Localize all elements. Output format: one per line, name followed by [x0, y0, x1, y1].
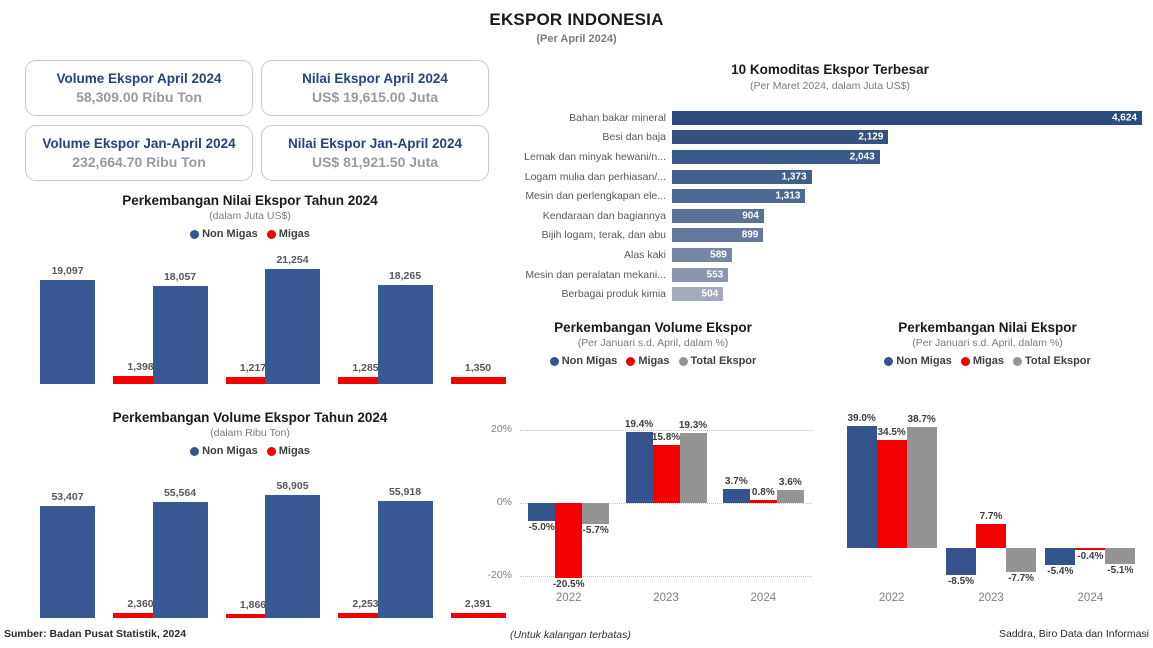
legend-dot-icon [1013, 357, 1022, 366]
chart-nilai-pct-plot: 39.0%34.5%38.7%2022-8.5%7.7%-7.7%2023-5.… [830, 410, 1150, 620]
commodity-value-label: 2,043 [850, 151, 875, 162]
legend-item-non-migas[interactable]: Non Migas [190, 445, 258, 457]
bar-non-migas[interactable] [265, 269, 320, 384]
bar-migas[interactable] [555, 503, 582, 578]
x-axis-tick-label: 2022 [539, 592, 599, 604]
legend-dot-icon [190, 447, 199, 456]
commodity-row: Lemak dan minyak hewani/n...2,043 [512, 147, 1148, 167]
kpi-value: 58,309.00 Ribu Ton [76, 89, 202, 105]
legend-label: Total Ekspor [691, 355, 757, 367]
bar-total-ekspor[interactable] [582, 503, 609, 524]
kpi-card-nilai-april[interactable]: Nilai Ekspor April 2024 US$ 19,615.00 Ju… [261, 60, 489, 116]
commodity-row: Mesin dan perlengkapan ele...1,313 [512, 186, 1148, 206]
bar-total-ekspor[interactable] [680, 433, 707, 503]
bar-value-label: 58,905 [263, 480, 323, 492]
bar-value-label: -5.1% [1096, 565, 1144, 576]
chart-title: Perkembangan Nilai Ekspor Tahun 2024 [10, 193, 490, 208]
legend-item-migas[interactable]: Migas [626, 355, 669, 367]
kpi-card-volume-jan-april[interactable]: Volume Ekspor Jan-April 2024 232,664.70 … [25, 125, 253, 181]
bar-group: 53,4072,360 [40, 488, 153, 618]
bar-total-ekspor[interactable] [1006, 548, 1036, 572]
chart-nilai-ekspor-2024-plot: 19,0971,39818,0571,21721,2541,28518,2651… [40, 262, 490, 384]
bar-non-migas[interactable] [378, 501, 433, 618]
bar-migas[interactable] [1075, 548, 1105, 550]
x-axis-tick-label: 2024 [1060, 592, 1120, 604]
bar-value-label: -5.7% [572, 525, 620, 536]
legend-item-migas[interactable]: Migas [267, 228, 310, 240]
bar-group: 21,2541,285 [265, 262, 378, 384]
chart-volume-pct-plot: 20%0%-20%-5.0%-20.5%-5.7%202219.4%15.8%1… [478, 410, 818, 620]
kpi-value: US$ 81,921.50 Juta [312, 154, 438, 170]
commodity-row: Kendaraan dan bagiannya904 [512, 206, 1148, 226]
chart-subtitle: (Per Maret 2024, dalam Juta US$) [510, 80, 1150, 92]
chart-volume-pct-header: Perkembangan Volume Ekspor (Per Januari … [488, 320, 818, 367]
commodity-value-label: 899 [742, 230, 759, 241]
bar-value-label: -5.4% [1036, 566, 1084, 577]
bar-value-label: 18,265 [375, 270, 435, 282]
bar-non-migas[interactable] [153, 286, 208, 384]
commodity-label: Logam mulia dan perhiasan/... [512, 171, 672, 183]
bar-value-label: 3.6% [766, 477, 814, 488]
bar-value-label: 39.0% [838, 413, 886, 424]
bar-value-label: 19.3% [669, 420, 717, 431]
legend-dot-icon [267, 447, 276, 456]
legend-dot-icon [190, 230, 199, 239]
legend-label: Non Migas [202, 445, 258, 457]
y-axis-tick-label: -20% [478, 569, 512, 581]
commodity-bar[interactable]: 4,624 [672, 111, 1142, 125]
x-axis-tick-label: 2023 [961, 592, 1021, 604]
x-axis-tick-label: 2022 [862, 592, 922, 604]
bar-non-migas[interactable] [153, 502, 208, 619]
bar-value-label: 21,254 [263, 254, 323, 266]
kpi-title: Nilai Ekspor Jan-April 2024 [288, 136, 462, 151]
footer-source: Sumber: Badan Pusat Statistik, 2024 [4, 628, 186, 640]
bar-non-migas[interactable] [946, 548, 976, 575]
bar-total-ekspor[interactable] [777, 490, 804, 503]
bar-value-label: 55,564 [150, 487, 210, 499]
bar-total-ekspor[interactable] [1105, 548, 1135, 564]
bar-group: 18,2651,350 [378, 262, 491, 384]
legend-dot-icon [884, 357, 893, 366]
commodity-label: Alas kaki [512, 249, 672, 261]
chart-legend: Non Migas Migas [10, 228, 490, 240]
legend-item-non-migas[interactable]: Non Migas [884, 355, 952, 367]
bar-group: 55,9182,391 [378, 488, 491, 618]
chart-legend: Non Migas Migas [10, 445, 490, 457]
chart-subtitle: (dalam Ribu Ton) [10, 427, 490, 439]
chart-title: Perkembangan Volume Ekspor [488, 320, 818, 335]
legend-item-total-ekspor[interactable]: Total Ekspor [1013, 355, 1091, 367]
legend-label: Migas [279, 228, 310, 240]
commodity-value-label: 2,129 [858, 132, 883, 143]
commodity-row: Berbagai produk kimia504 [512, 284, 1148, 304]
commodity-row: Alas kaki589 [512, 245, 1148, 265]
commodity-bar[interactable]: 1,313 [672, 189, 805, 203]
legend-item-non-migas[interactable]: Non Migas [190, 228, 258, 240]
commodity-label: Lemak dan minyak hewani/n... [512, 151, 672, 163]
kpi-title: Volume Ekspor Jan-April 2024 [42, 136, 235, 151]
commodity-bar[interactable]: 553 [672, 268, 728, 282]
commodity-bar[interactable]: 1,373 [672, 170, 812, 184]
commodity-label: Kendaraan dan bagiannya [512, 210, 672, 222]
chart-title: Perkembangan Volume Ekspor Tahun 2024 [10, 410, 490, 425]
chart-subtitle: (Per Januari s.d. April, dalam %) [488, 337, 818, 349]
chart-title: 10 Komoditas Ekspor Terbesar [510, 62, 1150, 77]
bar-migas[interactable] [653, 445, 680, 503]
commodity-bar[interactable]: 2,043 [672, 150, 880, 164]
bar-non-migas[interactable] [40, 280, 95, 384]
dashboard-root: EKSPOR INDONESIA (Per April 2024) Volume… [0, 0, 1153, 648]
commodity-bar[interactable]: 2,129 [672, 130, 888, 144]
bar-value-label: 53,407 [38, 491, 98, 503]
commodity-bar[interactable]: 904 [672, 209, 764, 223]
y-axis-tick-label: 0% [478, 496, 512, 508]
bar-non-migas[interactable] [265, 495, 320, 619]
chart-volume-ekspor-2024-header: Perkembangan Volume Ekspor Tahun 2024 (d… [10, 410, 490, 457]
bar-group: 58,9052,253 [265, 488, 378, 618]
bar-total-ekspor[interactable] [907, 427, 937, 548]
chart-volume-ekspor-2024-plot: 53,4072,36055,5641,86658,9052,25355,9182… [40, 488, 490, 618]
legend-dot-icon [550, 357, 559, 366]
gridline [520, 430, 812, 431]
chart-subtitle: (Per Januari s.d. April, dalam %) [825, 337, 1150, 349]
chart-nilai-pct-header: Perkembangan Nilai Ekspor (Per Januari s… [825, 320, 1150, 367]
commodity-value-label: 1,313 [775, 191, 800, 202]
chart-nilai-ekspor-2024-header: Perkembangan Nilai Ekspor Tahun 2024 (da… [10, 193, 490, 240]
legend-label: Non Migas [562, 355, 618, 367]
legend-label: Migas [973, 355, 1004, 367]
bar-value-label: 55,918 [375, 486, 435, 498]
legend-dot-icon [961, 357, 970, 366]
bar-non-migas[interactable] [847, 426, 877, 548]
bar-non-migas[interactable] [378, 285, 433, 384]
chart-legend: Non Migas Migas Total Ekspor [825, 355, 1150, 367]
bar-group: 19,0971,398 [40, 262, 153, 384]
bar-migas[interactable] [750, 500, 777, 503]
kpi-card-volume-april[interactable]: Volume Ekspor April 2024 58,309.00 Ribu … [25, 60, 253, 116]
bar-value-label: 19,097 [38, 265, 98, 277]
y-axis-tick-label: 20% [478, 423, 512, 435]
commodity-row: Logam mulia dan perhiasan/...1,373 [512, 167, 1148, 187]
chart-komoditas-plot: Bahan bakar mineral4,624Besi dan baja2,1… [512, 108, 1148, 304]
commodity-value-label: 553 [707, 269, 724, 280]
bar-group: 18,0571,217 [153, 262, 266, 384]
legend-label: Migas [638, 355, 669, 367]
legend-dot-icon [679, 357, 688, 366]
page-subtitle-text: (Per April 2024) [0, 33, 1153, 45]
commodity-label: Besi dan baja [512, 131, 672, 143]
legend-dot-icon [626, 357, 635, 366]
commodity-bar[interactable]: 504 [672, 287, 723, 301]
kpi-card-nilai-jan-april[interactable]: Nilai Ekspor Jan-April 2024 US$ 81,921.5… [261, 125, 489, 181]
commodity-label: Mesin dan perlengkapan ele... [512, 190, 672, 202]
bar-value-label: 3.7% [712, 476, 760, 487]
commodity-label: Bahan bakar mineral [512, 112, 672, 124]
bar-migas[interactable] [877, 440, 907, 548]
chart-subtitle: (dalam Juta US$) [10, 210, 490, 222]
legend-label: Non Migas [896, 355, 952, 367]
kpi-value: 232,664.70 Ribu Ton [72, 154, 206, 170]
bar-non-migas[interactable] [528, 503, 555, 521]
commodity-value-label: 589 [710, 249, 727, 260]
commodity-value-label: 904 [742, 210, 759, 221]
page-title-text: EKSPOR INDONESIA [0, 10, 1153, 30]
kpi-title: Volume Ekspor April 2024 [56, 71, 221, 86]
bar-value-label: 18,057 [150, 271, 210, 283]
commodity-row: Bahan bakar mineral4,624 [512, 108, 1148, 128]
commodity-row: Mesin dan peralatan mekani...553 [512, 265, 1148, 285]
page-title: EKSPOR INDONESIA (Per April 2024) [0, 10, 1153, 45]
footer-author: Saddra, Biro Data dan Informasi [999, 628, 1149, 640]
bar-value-label: 38.7% [898, 414, 946, 425]
bar-group: 55,5641,866 [153, 488, 266, 618]
bar-non-migas[interactable] [40, 506, 95, 618]
commodity-row: Bijih logam, terak, dan abu899 [512, 226, 1148, 246]
chart-komoditas-header: 10 Komoditas Ekspor Terbesar (Per Maret … [510, 62, 1150, 92]
commodity-bar[interactable]: 589 [672, 248, 732, 262]
commodity-label: Mesin dan peralatan mekani... [512, 269, 672, 281]
legend-item-total-ekspor[interactable]: Total Ekspor [679, 355, 757, 367]
legend-item-non-migas[interactable]: Non Migas [550, 355, 618, 367]
legend-label: Migas [279, 445, 310, 457]
footer-notice: (Untuk kalangan terbatas) [510, 629, 631, 641]
commodity-label: Berbagai produk kimia [512, 288, 672, 300]
commodity-label: Bijih logam, terak, dan abu [512, 229, 672, 241]
legend-item-migas[interactable]: Migas [267, 445, 310, 457]
legend-dot-icon [267, 230, 276, 239]
kpi-title: Nilai Ekspor April 2024 [302, 71, 448, 86]
commodity-value-label: 1,373 [782, 171, 807, 182]
legend-item-migas[interactable]: Migas [961, 355, 1004, 367]
x-axis-tick-label: 2024 [733, 592, 793, 604]
x-axis-tick-label: 2023 [636, 592, 696, 604]
commodity-bar[interactable]: 899 [672, 228, 763, 242]
commodity-row: Besi dan baja2,129 [512, 128, 1148, 148]
bar-value-label: -8.5% [937, 576, 985, 587]
kpi-value: US$ 19,615.00 Juta [312, 89, 438, 105]
bar-migas[interactable] [451, 377, 506, 384]
bar-value-label: 7.7% [967, 511, 1015, 522]
bar-value-label: -20.5% [545, 579, 593, 590]
chart-title: Perkembangan Nilai Ekspor [825, 320, 1150, 335]
legend-label: Non Migas [202, 228, 258, 240]
bar-migas[interactable] [976, 524, 1006, 548]
legend-label: Total Ekspor [1025, 355, 1091, 367]
commodity-value-label: 504 [702, 289, 719, 300]
commodity-value-label: 4,624 [1112, 112, 1137, 123]
bar-value-label: 19.4% [615, 419, 663, 430]
chart-legend: Non Migas Migas Total Ekspor [488, 355, 818, 367]
